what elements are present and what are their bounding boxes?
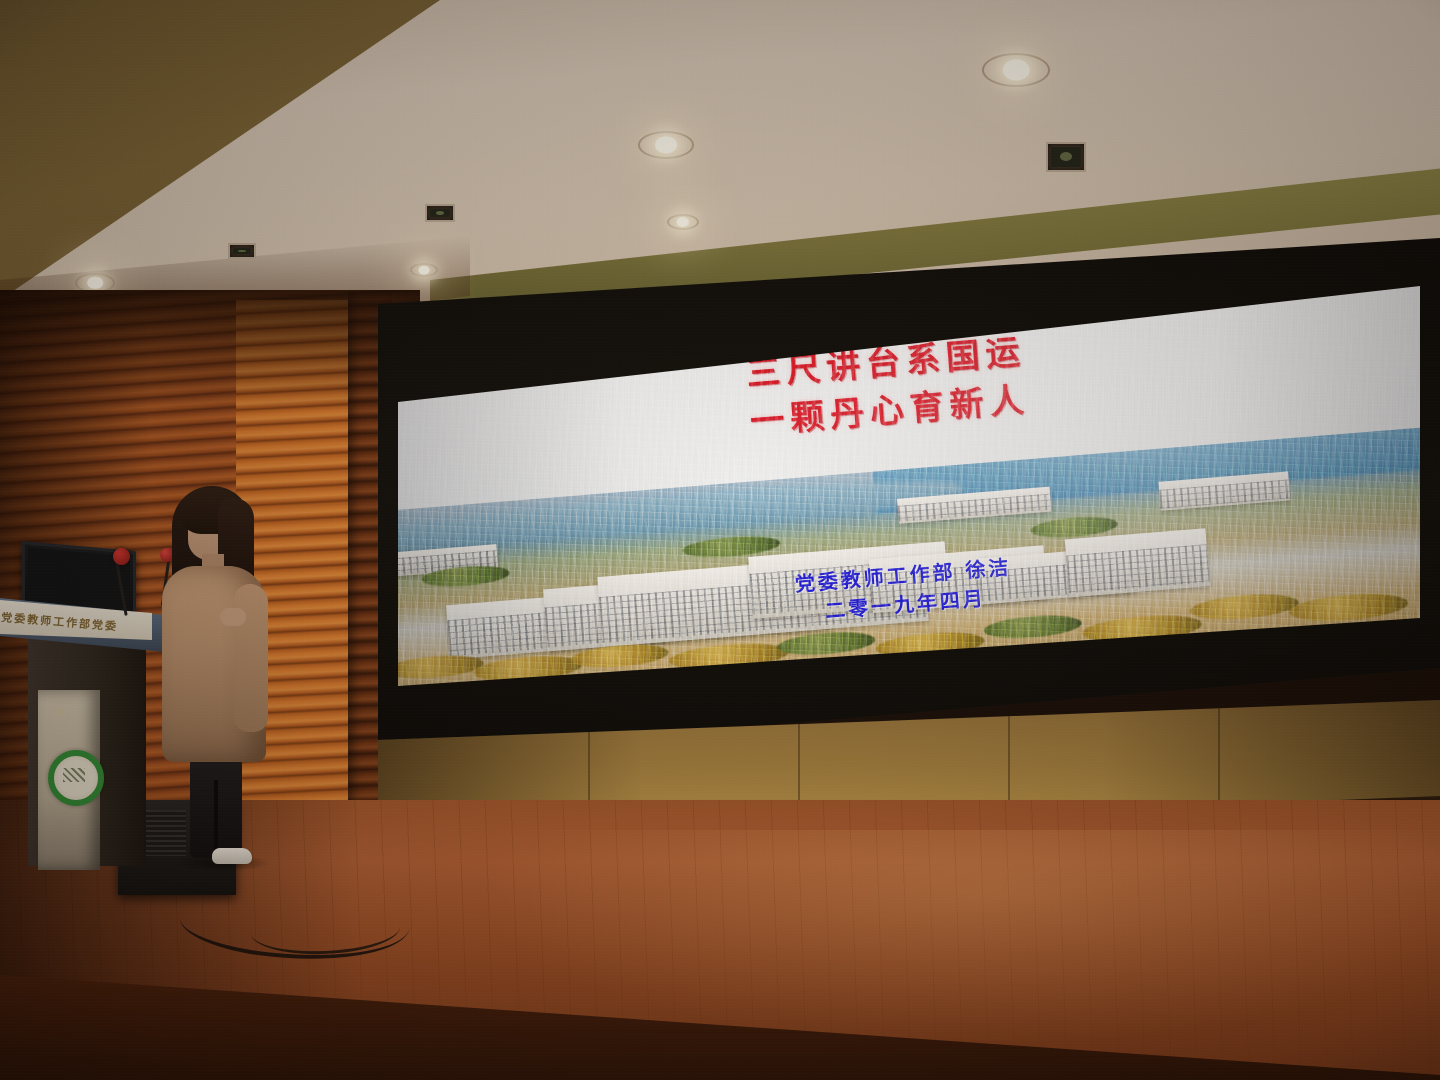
ceiling-square-fixture-1-icon [1046,142,1086,172]
presenter-leg-gap [214,780,218,858]
presenter [150,480,280,880]
downlight-bulb [1003,59,1030,80]
microphone-icon[interactable] [113,548,130,565]
lecture-hall-scene: 党委教师工作部 三尺讲台系国运 一颗丹心育新人 党委教师工作部 徐洁 二零一九年… [0,0,1440,1080]
campus-tree [1189,591,1299,622]
downlight-bulb [87,277,103,289]
fixture-lens [1051,147,1081,167]
presenter-shoe [212,848,252,864]
presenter-hand [220,608,246,626]
campus-tree [777,629,876,657]
ceiling-downlight-1-icon [982,53,1050,87]
campus-tree [1288,591,1409,625]
presenter-arm [234,584,268,732]
ceiling-downlight-4-icon [667,214,699,230]
podium-green-emblem [48,750,104,806]
fixture-lens [430,209,450,217]
downlight-bulb [655,136,677,153]
podium-arrow-icon [56,705,68,719]
stage-floor-highlight [430,830,1440,1040]
campus-tree [983,613,1082,641]
fixture-lens [233,248,251,254]
ceiling-downlight-2-icon [638,131,694,159]
downlight-bulb [419,266,430,275]
ceiling-recessed-fixture-2-icon [425,204,455,222]
podium-plate-text: 党委教师工作部党委 [1,609,152,637]
ceiling-downlight-5-icon [410,263,438,277]
ceiling-recessed-fixture-3-icon [228,243,256,259]
